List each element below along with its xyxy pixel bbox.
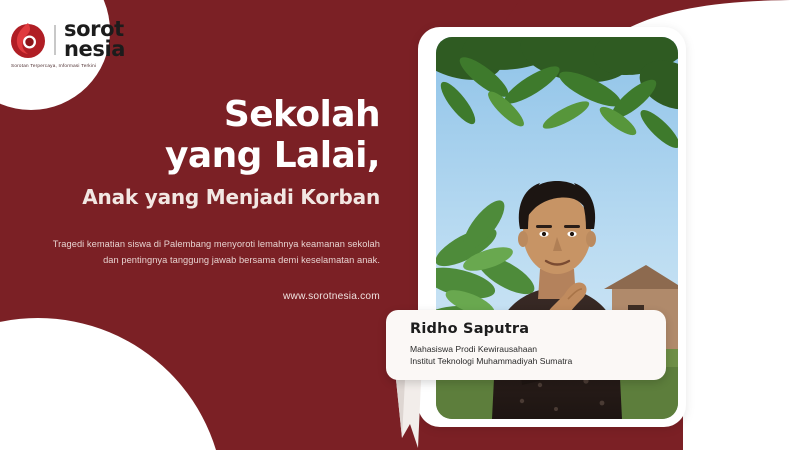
brand-logo[interactable]: sorot nesia Sorotan Terpercaya, Informas…	[8, 20, 125, 68]
logo-divider	[54, 25, 56, 55]
headline-line-1: Sekolah	[40, 95, 380, 136]
subheadline: Anak yang Menjadi Korban	[40, 185, 380, 209]
headline-line-2: yang Lalai,	[40, 136, 380, 177]
logo-wordmark: sorot nesia	[64, 20, 125, 59]
flame-circle-logo-icon	[8, 20, 48, 60]
logo-tagline: Sorotan Terpercaya, Informasi Terkini	[11, 63, 96, 68]
logo-word-line2: nesia	[64, 40, 125, 60]
article-body-text: Tragedi kematian siswa di Palembang meny…	[40, 237, 380, 269]
news-card-canvas: sorot nesia Sorotan Terpercaya, Informas…	[0, 0, 800, 450]
speaker-name-card: Ridho Saputra Mahasiswa Prodi Kewirausah…	[386, 310, 666, 380]
person-role: Mahasiswa Prodi Kewirausahaan	[410, 343, 666, 355]
person-name: Ridho Saputra	[410, 321, 666, 337]
article-text-column: Sekolah yang Lalai, Anak yang Menjadi Ko…	[40, 95, 380, 302]
website-url[interactable]: www.sorotnesia.com	[40, 291, 380, 302]
person-institution: Institut Teknologi Muhammadiyah Sumatra	[410, 355, 666, 367]
